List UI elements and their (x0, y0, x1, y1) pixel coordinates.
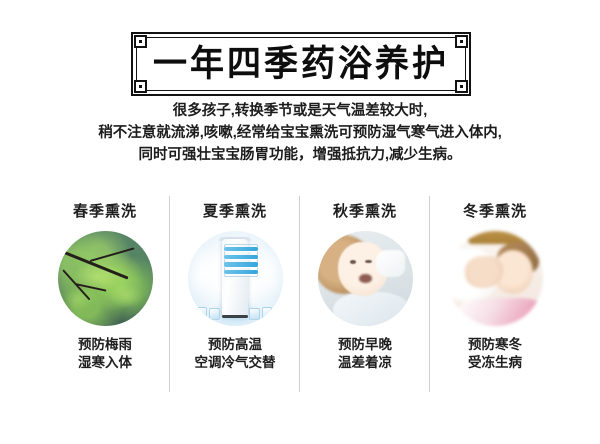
caption-line-1: 预防早晚 (338, 336, 392, 354)
caption-line-1: 预防梅雨 (78, 336, 132, 354)
intro-line-3: 同时可强壮宝宝肠胃功能，增强抵抗力,减少生病。 (30, 144, 570, 166)
title-frame: 一年四季药浴养护 (131, 32, 471, 96)
cooler-vent (224, 255, 258, 259)
ice-cube (209, 308, 219, 320)
season-column-winter: 冬季熏洗 预防寒冬 受冻生病 (430, 194, 560, 394)
cooler-vent (224, 270, 258, 274)
season-caption-autumn: 预防早晚 温差着凉 (338, 336, 392, 372)
baby-sneezing-tissue-photo (318, 231, 413, 326)
caption-line-2: 温差着凉 (338, 354, 392, 372)
caption-line-1: 预防寒冬 (468, 336, 522, 354)
poster-root: 一年四季药浴养护 很多孩子,转换季节或是天气温差较大时, 稍不注意就流涕,咳嗽,… (0, 0, 600, 444)
baby-clothing (333, 292, 409, 326)
season-caption-winter: 预防寒冬 受冻生病 (468, 336, 522, 372)
intro-line-1: 很多孩子,转换季节或是天气温差较大时, (30, 100, 570, 122)
season-column-autumn: 秋季熏洗 预防早晚 温差着凉 (300, 194, 430, 394)
caption-line-2: 受冻生病 (468, 354, 522, 372)
caption-line-2: 空调冷气交替 (195, 354, 276, 372)
season-caption-summer: 预防高温 空调冷气交替 (195, 336, 276, 372)
season-title-autumn: 秋季熏洗 (333, 200, 397, 221)
ice-cube (249, 308, 259, 320)
season-title-summer: 夏季熏洗 (203, 200, 267, 221)
season-column-spring: 春季熏洗 预防梅雨 湿寒入体 (40, 194, 170, 394)
ice-cube (262, 307, 272, 322)
season-caption-spring: 预防梅雨 湿寒入体 (78, 336, 132, 372)
intro-line-2: 稍不注意就流涕,咳嗽,经常给宝宝熏洗可预防湿气寒气进入体内, (30, 122, 570, 144)
page-title: 一年四季药浴养护 (131, 30, 471, 98)
air-conditioner-cooler-photo (188, 231, 283, 326)
tissue-paper (376, 250, 405, 277)
green-leaves-branch-photo (58, 231, 153, 326)
cooler-vent (224, 262, 258, 266)
cooler-base (222, 315, 249, 319)
caregiver-hand (465, 256, 503, 288)
ice-cube (197, 307, 207, 322)
cooler-vent (224, 247, 258, 251)
blanket (457, 298, 543, 327)
season-title-spring: 春季熏洗 (73, 200, 137, 221)
season-columns: 春季熏洗 预防梅雨 湿寒入体 夏季熏洗 (40, 194, 560, 394)
season-column-summer: 夏季熏洗 预防高温 空调冷气交替 (170, 194, 300, 394)
child-in-bed-fever-photo (448, 231, 543, 326)
baby-eye (365, 260, 372, 264)
season-title-winter: 冬季熏洗 (463, 200, 527, 221)
baby-mouth (359, 274, 371, 284)
caption-line-1: 预防高温 (195, 336, 276, 354)
intro-paragraph: 很多孩子,转换季节或是天气温差较大时, 稍不注意就流涕,咳嗽,经常给宝宝熏洗可预… (30, 100, 570, 166)
caption-line-2: 湿寒入体 (78, 354, 132, 372)
